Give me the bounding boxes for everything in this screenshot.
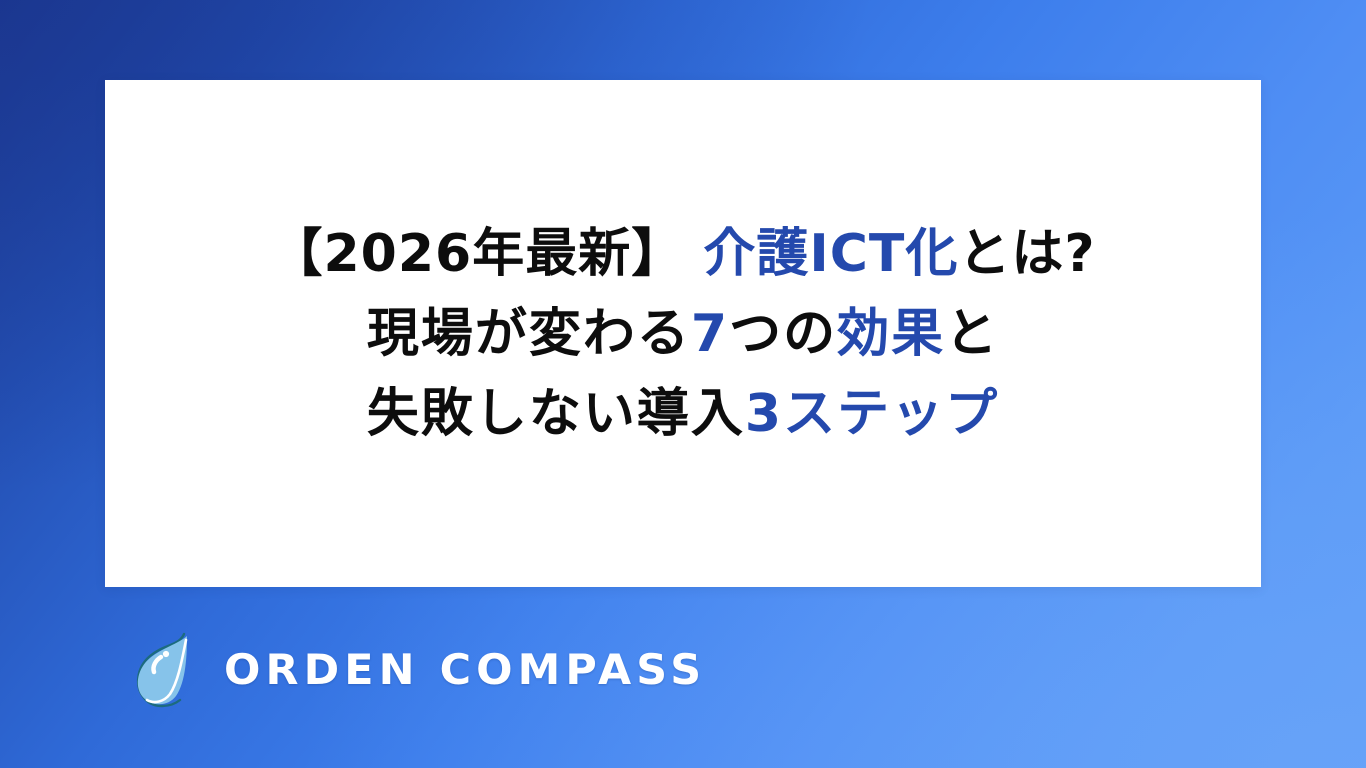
headline-segment-towa: とは?: [958, 224, 1095, 284]
headline-line-1: 【2026年最新】 介護ICT化とは?: [271, 214, 1096, 294]
headline-segment-seven: 7: [691, 304, 729, 364]
headline-segment-bracket-year: 【2026年最新】: [271, 224, 685, 284]
headline-line-2: 現場が変わる7つの効果と: [367, 294, 999, 374]
headline-line-3: 失敗しない導入3ステップ: [367, 374, 999, 454]
slide-canvas: 【2026年最新】 介護ICT化とは? 現場が変わる7つの効果と 失敗しない導入…: [0, 0, 1366, 768]
headline-segment-space-1: [684, 224, 703, 284]
brand-name: ORDEN COMPASS: [224, 649, 706, 691]
headline-segment-shippai: 失敗しない導入: [367, 384, 745, 444]
headline-segment-tsuno: つの: [729, 304, 837, 364]
headline-segment-to: と: [945, 304, 999, 364]
headline-segment-genba: 現場が変わる: [367, 304, 691, 364]
water-droplet-icon: [130, 630, 202, 710]
headline-segment-kouka: 効果: [837, 304, 945, 364]
brand-lockup: ORDEN COMPASS: [130, 630, 697, 710]
headline-segment-kaigo-ict: 介護ICT化: [703, 224, 958, 284]
headline-block: 【2026年最新】 介護ICT化とは? 現場が変わる7つの効果と 失敗しない導入…: [105, 80, 1261, 587]
headline-segment-three-steps: 3ステップ: [745, 384, 999, 444]
content-card: 【2026年最新】 介護ICT化とは? 現場が変わる7つの効果と 失敗しない導入…: [105, 80, 1261, 587]
